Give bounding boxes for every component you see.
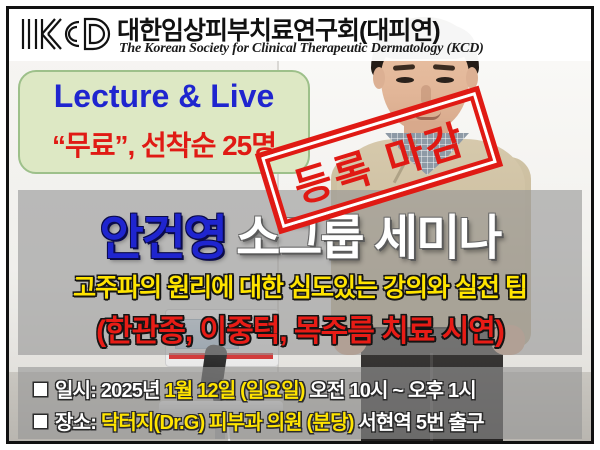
subtitle-red: (한관종, 이중턱, 목주름 치료 시연): [18, 306, 582, 350]
square-bullet-icon: [34, 383, 47, 396]
info-datetime-highlight: 1월 12일 (일요일): [164, 380, 304, 402]
info-line-venue: 장소: 닥터지(Dr.G) 피부과 의원 (분당) 서현역 5번 출구: [34, 406, 574, 435]
figure-eye-left: [396, 77, 414, 83]
info-datetime-part2: 오전 10시 ~ 오후 1시: [305, 380, 476, 402]
poster-root: 대한임상피부치료연구회(대피연) The Korean Society for …: [0, 0, 600, 450]
info-line-datetime: 일시: 2025년 1월 12일 (일요일) 오전 10시 ~ 오후 1시: [34, 374, 574, 403]
square-bullet-icon: [34, 415, 47, 428]
figure-eye-right: [436, 77, 454, 83]
figure-ear-left: [373, 67, 385, 89]
org-subtitle: The Korean Society for Clinical Therapeu…: [119, 41, 484, 57]
promo-line-lecture-live: Lecture & Live: [20, 78, 308, 115]
kcd-logo-icon: [19, 13, 115, 55]
header-band: 대한임상피부치료연구회(대피연) The Korean Society for …: [9, 9, 591, 61]
info-venue-part2: 서현역 5번 출구: [354, 412, 484, 434]
info-label-venue: 장소:: [55, 412, 96, 434]
info-label-datetime: 일시:: [55, 380, 96, 402]
info-datetime-part1: 2025년: [96, 380, 164, 402]
info-venue-highlight: 닥터지(Dr.G) 피부과 의원 (분당): [101, 412, 354, 434]
page-title-name: 안건영: [100, 212, 226, 265]
subtitle-yellow: 고주파의 원리에 대한 심도있는 강의와 실전 팁: [18, 268, 582, 304]
